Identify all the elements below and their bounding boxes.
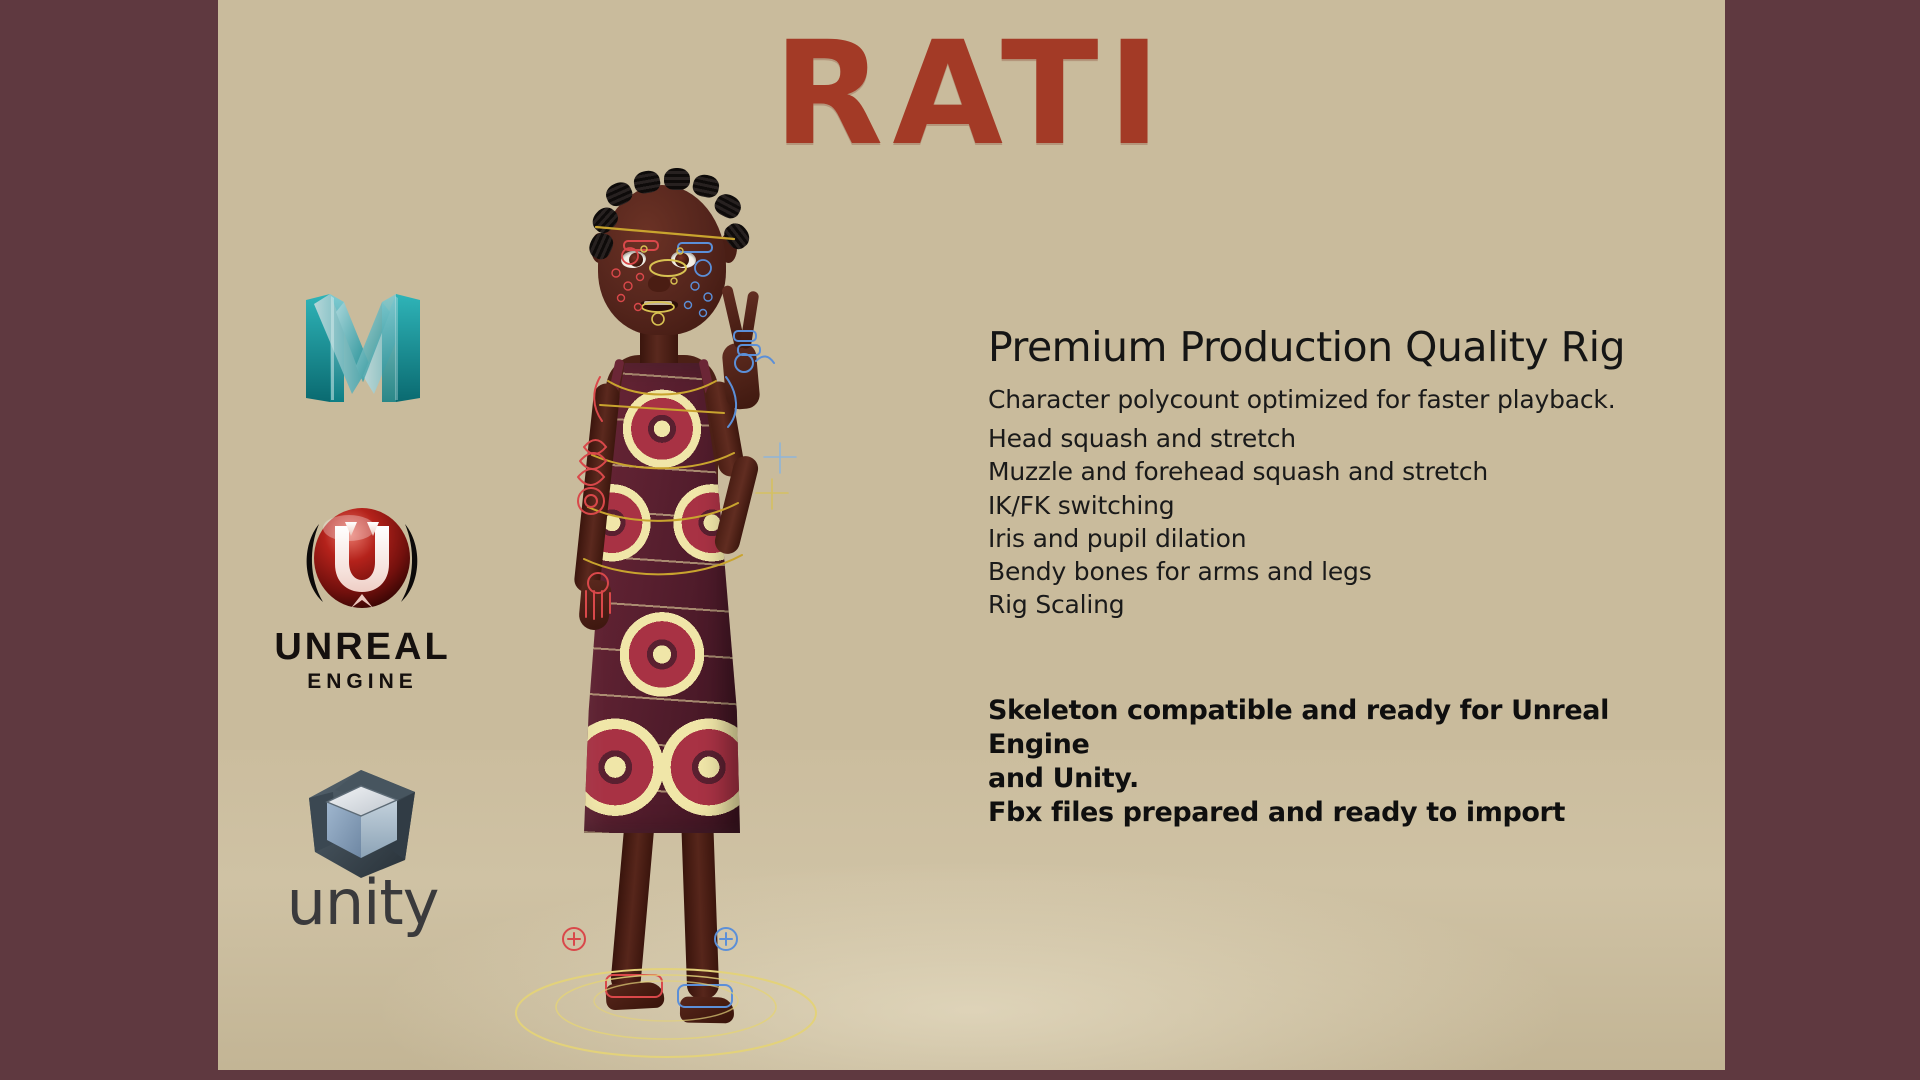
feature-list: Character polycount optimized for faster… <box>988 383 1678 622</box>
feature-item: Rig Scaling <box>988 588 1678 621</box>
hand-left-peace-sign <box>721 342 761 411</box>
cog-control <box>556 975 776 1039</box>
teeth <box>644 301 672 305</box>
unity-logo: unity <box>287 764 439 934</box>
note-line: Skeleton compatible and ready for Unreal… <box>988 694 1678 762</box>
nose <box>648 275 670 292</box>
feature-item: Bendy bones for arms and legs <box>988 555 1678 588</box>
master-control <box>516 969 816 1057</box>
unreal-u-icon <box>299 500 425 620</box>
world-axis-cross-2 <box>756 479 788 509</box>
right-border-band <box>1725 0 1920 1080</box>
feature-item: IK/FK switching <box>988 489 1678 522</box>
note-line: and Unity. <box>988 762 1678 796</box>
compatibility-notes: Skeleton compatible and ready for Unreal… <box>988 694 1678 830</box>
headline: Premium Production Quality Rig <box>988 325 1678 371</box>
poster-canvas: RATI <box>218 0 1725 1080</box>
wrist-control-right <box>756 356 774 363</box>
iris-left <box>628 252 643 267</box>
poster-stage: RATI <box>0 0 1920 1080</box>
unity-wordmark: unity <box>287 872 439 934</box>
foot-right <box>680 997 734 1024</box>
knee-pole-right <box>715 928 737 950</box>
world-axis-cross <box>764 443 796 473</box>
hair-knot <box>711 190 744 222</box>
page-title: RATI <box>218 22 1725 165</box>
feature-item: Muzzle and forehead squash and stretch <box>988 455 1678 488</box>
middle-finger <box>740 290 760 349</box>
feature-item: Character polycount optimized for faster… <box>988 383 1678 416</box>
feature-text-column: Premium Production Quality Rig Character… <box>988 325 1678 830</box>
iris-right <box>674 252 689 267</box>
character-render <box>488 155 828 1075</box>
unreal-wordmark: UNREAL <box>274 626 450 669</box>
maya-m-icon <box>300 290 426 408</box>
maya-logo <box>300 290 426 408</box>
software-logo-column: UNREAL ENGINE <box>230 290 495 934</box>
note-line: Fbx files prepared and ready to import <box>988 796 1678 830</box>
bottom-border-band <box>0 1070 1920 1080</box>
hair-knot <box>691 173 721 200</box>
feature-item: Head squash and stretch <box>988 422 1678 455</box>
left-border-band <box>0 0 218 1080</box>
engine-wordmark: ENGINE <box>307 670 418 694</box>
character-head <box>598 185 726 335</box>
knee-pole-left <box>563 928 585 950</box>
feature-item: Iris and pupil dilation <box>988 522 1678 555</box>
hair-knot <box>664 168 690 190</box>
foot-left <box>605 982 664 1011</box>
unreal-engine-logo: UNREAL ENGINE <box>274 500 450 694</box>
